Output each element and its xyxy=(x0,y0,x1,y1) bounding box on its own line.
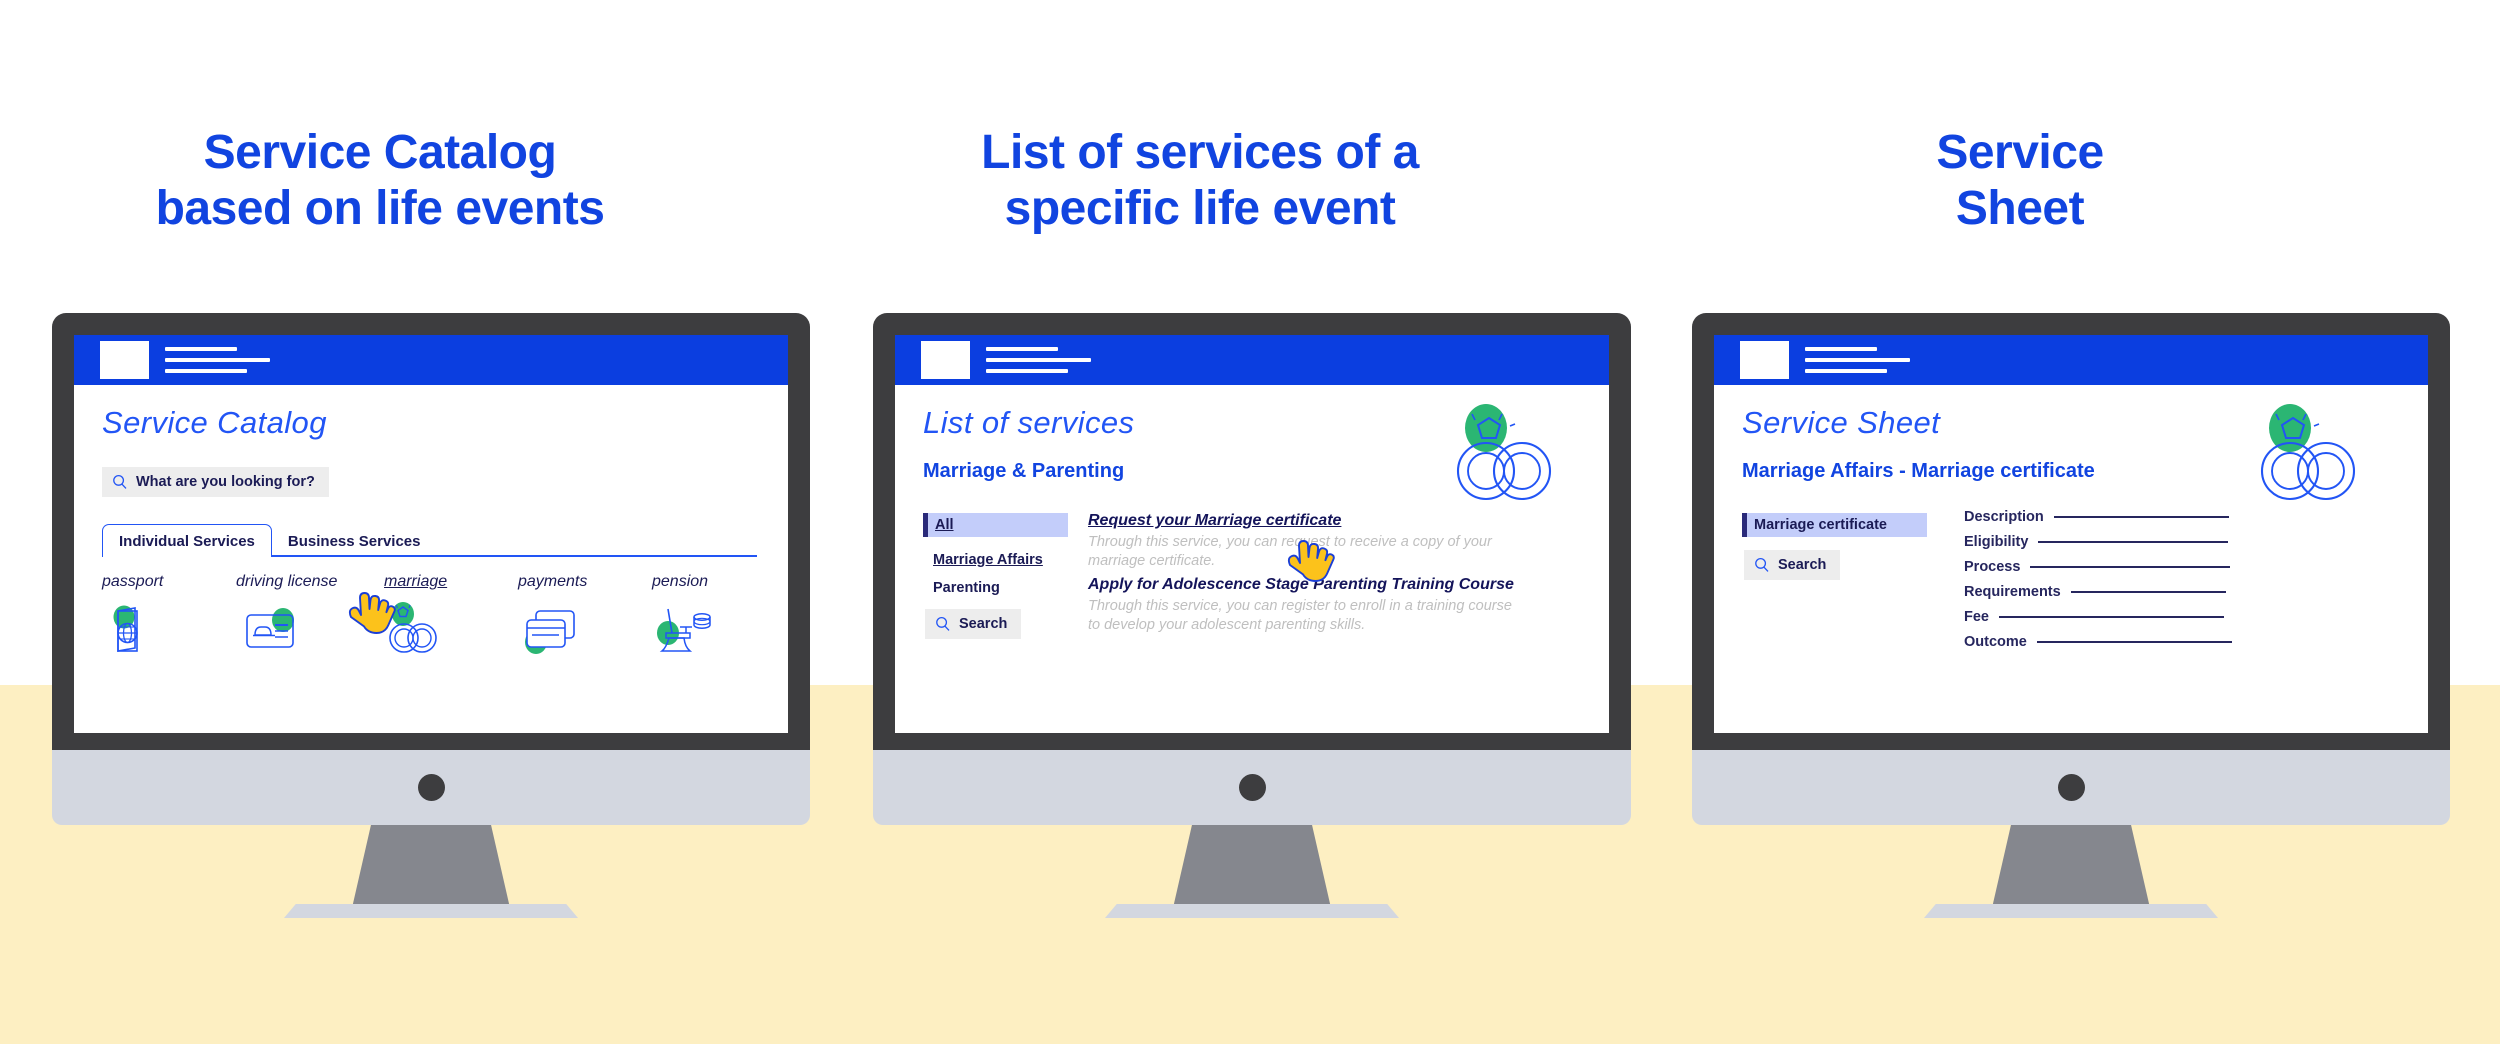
site-header-bar xyxy=(1714,335,2428,385)
page-title: Service Sheet xyxy=(1742,405,1940,441)
search-icon xyxy=(935,616,951,632)
search-placeholder-text: What are you looking for? xyxy=(136,474,315,490)
header-line-2 xyxy=(986,358,1091,362)
screen-service-sheet: Service Sheet Marriage Affairs - Marriag… xyxy=(1714,335,2428,733)
monitor-chin xyxy=(1692,750,2450,825)
sidebar-item-marriage-certificate[interactable]: Marriage certificate xyxy=(1742,513,1927,537)
screen-body: Service Sheet Marriage Affairs - Marriag… xyxy=(1714,388,2428,733)
search-input[interactable]: What are you looking for? xyxy=(102,467,329,497)
header-line-2 xyxy=(165,358,270,362)
detail-label: Requirements xyxy=(1964,584,2061,600)
monitor-foot xyxy=(1924,904,2218,918)
header-line-2 xyxy=(1805,358,1910,362)
category-payments[interactable]: payments xyxy=(518,573,652,664)
passport-icon xyxy=(102,597,236,664)
pointing-hand-cursor xyxy=(341,581,403,648)
service-title[interactable]: Request your Marriage certificate xyxy=(1088,512,1578,530)
header-line-3 xyxy=(165,369,247,373)
monitor-foot xyxy=(284,904,578,918)
page-title: List of services xyxy=(923,405,1134,441)
search-input[interactable]: Search xyxy=(1744,550,1840,580)
screen-service-catalog: Service Catalog What are you looking for… xyxy=(74,335,788,733)
search-label: Search xyxy=(959,616,1007,632)
service-sheet-sidebar: Marriage certificate Search xyxy=(1742,513,1927,580)
monitor-service-catalog: Service Catalog What are you looking for… xyxy=(52,313,810,933)
header-line-3 xyxy=(1805,369,1887,373)
detail-row-description: Description xyxy=(1964,509,2384,525)
panel-title-2: List of services of a specific life even… xyxy=(880,125,1520,237)
page-subtitle: Marriage & Parenting xyxy=(923,460,1124,483)
monitor-power-dot xyxy=(418,774,445,801)
site-logo xyxy=(1740,341,1789,379)
detail-label: Fee xyxy=(1964,609,1989,625)
monitor-chin xyxy=(873,750,1631,825)
pointing-hand-cursor xyxy=(1280,529,1342,596)
service-filter-sidebar: All Marriage Affairs Parenting Search xyxy=(923,513,1068,639)
search-label: Search xyxy=(1778,557,1826,573)
monitor-neck xyxy=(1992,825,2150,908)
detail-value-line xyxy=(2030,566,2230,568)
detail-label: Eligibility xyxy=(1964,534,2028,550)
panel-title-3: Service Sheet xyxy=(1700,125,2340,237)
screen-body: List of services Marriage & Parenting xyxy=(895,388,1609,733)
header-text-lines xyxy=(1805,347,1910,373)
monitor-power-dot xyxy=(1239,774,1266,801)
monitor-foot xyxy=(1105,904,1399,918)
monitor-chin xyxy=(52,750,810,825)
header-text-lines xyxy=(986,347,1091,373)
category-label: marriage xyxy=(384,573,518,591)
monitor-service-sheet: Service Sheet Marriage Affairs - Marriag… xyxy=(1692,313,2450,933)
payment-cards-icon xyxy=(518,597,652,664)
monitor-power-dot xyxy=(2058,774,2085,801)
detail-label: Outcome xyxy=(1964,634,2027,650)
page-title: Service Catalog xyxy=(102,405,327,441)
detail-value-line xyxy=(2054,516,2229,518)
site-logo xyxy=(100,341,149,379)
detail-value-line xyxy=(1999,616,2224,618)
marriage-rings-icon xyxy=(1450,400,1562,513)
screen-body: Service Catalog What are you looking for… xyxy=(74,388,788,733)
detail-label: Description xyxy=(1964,509,2044,525)
header-line-3 xyxy=(986,369,1068,373)
site-header-bar xyxy=(895,335,1609,385)
header-line-1 xyxy=(1805,347,1877,351)
header-line-1 xyxy=(986,347,1058,351)
service-detail-rows: Description Eligibility Process Requirem… xyxy=(1964,509,2384,659)
illustration-canvas: Service Catalog based on life events Lis… xyxy=(0,0,2500,1044)
panel-title-1: Service Catalog based on life events xyxy=(60,125,700,237)
detail-row-eligibility: Eligibility xyxy=(1964,534,2384,550)
life-event-category-row: passport xyxy=(102,573,762,664)
detail-value-line xyxy=(2037,641,2232,643)
category-passport[interactable]: passport xyxy=(102,573,236,664)
header-text-lines xyxy=(165,347,270,373)
marriage-rings-icon xyxy=(384,597,518,664)
service-description: Through this service, you can register t… xyxy=(1088,597,1528,634)
pension-icon xyxy=(652,597,762,664)
search-icon xyxy=(112,474,128,490)
category-label: payments xyxy=(518,573,652,591)
category-pension[interactable]: pension xyxy=(652,573,762,664)
category-label: passport xyxy=(102,573,236,591)
category-label: pension xyxy=(652,573,762,591)
site-logo xyxy=(921,341,970,379)
detail-value-line xyxy=(2038,541,2228,543)
detail-value-line xyxy=(2071,591,2226,593)
monitor-list-of-services: List of services Marriage & Parenting xyxy=(873,313,1631,933)
screen-list-of-services: List of services Marriage & Parenting xyxy=(895,335,1609,733)
sidebar-item-parenting[interactable]: Parenting xyxy=(923,576,1068,600)
header-line-1 xyxy=(165,347,237,351)
detail-row-requirements: Requirements xyxy=(1964,584,2384,600)
sidebar-item-all[interactable]: All xyxy=(923,513,1068,537)
sidebar-item-marriage-affairs[interactable]: Marriage Affairs xyxy=(923,548,1068,572)
monitor-neck xyxy=(352,825,510,908)
tab-individual-services[interactable]: Individual Services xyxy=(102,524,272,557)
detail-row-process: Process xyxy=(1964,559,2384,575)
marriage-rings-icon xyxy=(2254,400,2366,513)
site-header-bar xyxy=(74,335,788,385)
detail-row-fee: Fee xyxy=(1964,609,2384,625)
page-subtitle: Marriage Affairs - Marriage certificate xyxy=(1742,460,2095,483)
service-tabs: Individual Services Business Services xyxy=(102,521,757,557)
detail-label: Process xyxy=(1964,559,2020,575)
detail-row-outcome: Outcome xyxy=(1964,634,2384,650)
search-icon xyxy=(1754,557,1770,573)
search-input[interactable]: Search xyxy=(925,609,1021,639)
monitor-neck xyxy=(1173,825,1331,908)
category-marriage[interactable]: marriage xyxy=(384,573,518,664)
tab-business-services[interactable]: Business Services xyxy=(272,525,437,557)
